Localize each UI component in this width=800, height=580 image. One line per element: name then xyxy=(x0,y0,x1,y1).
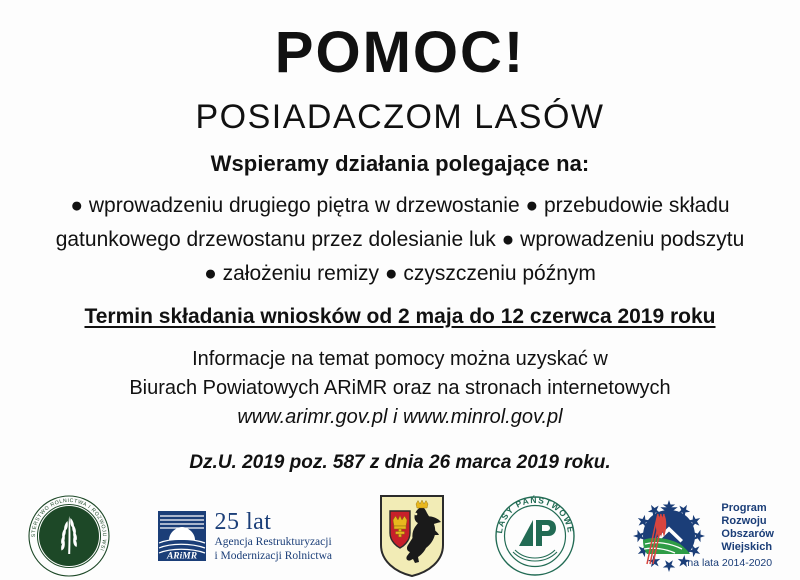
prow-line-1: Program xyxy=(721,502,774,515)
svg-text:ARiMR: ARiMR xyxy=(166,552,197,562)
arimr-mark-icon: ARiMR xyxy=(157,510,207,562)
info-line: Informacje na temat pomocy można uzyskać… xyxy=(129,345,670,374)
prow-years: na lata 2014-2020 xyxy=(687,557,774,569)
arimr-anniversary: 25 lat xyxy=(214,510,332,534)
page-subtitle: POSIADACZOM LASÓW xyxy=(196,100,605,134)
coat-of-arms-icon xyxy=(377,493,447,579)
info-line: Biurach Powiatowych ARiMR oraz na strona… xyxy=(129,374,670,403)
bullet-line: ● założeniu remizy ● czyszczeniu późnym xyxy=(20,257,780,291)
arimr-name-line-2: i Modernizacji Rolnictwa xyxy=(214,551,332,563)
logo-arimr: ARiMR 25 lat Agencja Restrukturyzacji i … xyxy=(157,510,332,563)
deadline-text: Termin składania wniosków od 2 maja do 1… xyxy=(84,305,715,329)
arimr-name-line-1: Agencja Restrukturyzacji xyxy=(214,537,332,549)
prow-line-2: Rozwoju xyxy=(721,515,774,528)
logo-coat-of-arms xyxy=(377,493,447,579)
info-block: Informacje na temat pomocy można uzyskać… xyxy=(129,345,670,432)
ministry-seal-icon: MINISTERSTWO ROLNICTWA I ROZWOJU WSI xyxy=(26,493,112,579)
bullet-list: ● wprowadzeniu drugiego piętra w drzewos… xyxy=(20,189,780,291)
logo-strip: MINISTERSTWO ROLNICTWA I ROZWOJU WSI xyxy=(0,492,800,580)
poster-root: POMOC! POSIADACZOM LASÓW Wspieramy dział… xyxy=(0,0,800,565)
website-links[interactable]: www.arimr.gov.pl i www.minrol.gov.pl xyxy=(129,403,670,432)
prow-line-4: Wiejskich xyxy=(721,541,774,554)
legal-reference: Dz.U. 2019 poz. 587 z dnia 26 marca 2019… xyxy=(189,452,610,474)
logo-lasy-panstwowe: LASY PAŃSTWOWE xyxy=(493,494,577,578)
prow-text-block: Program Rozwoju Obszarów Wiejskich na la… xyxy=(721,502,774,569)
arimr-text-block: 25 lat Agencja Restrukturyzacji i Modern… xyxy=(214,510,332,563)
lead-text: Wspieramy działania polegające na: xyxy=(211,151,590,177)
svg-text:LASY PAŃSTWOWE: LASY PAŃSTWOWE xyxy=(494,495,576,534)
bullet-line: ● wprowadzeniu drugiego piętra w drzewos… xyxy=(20,189,780,223)
logo-ministry-agriculture: MINISTERSTWO ROLNICTWA I ROZWOJU WSI xyxy=(26,493,112,579)
logo-prow: Program Rozwoju Obszarów Wiejskich na la… xyxy=(622,492,774,580)
bullet-line: gatunkowego drzewostanu przez dolesianie… xyxy=(20,223,780,257)
lasy-panstwowe-icon: LASY PAŃSTWOWE xyxy=(493,494,577,578)
page-title: POMOC! xyxy=(275,24,525,82)
prow-line-3: Obszarów xyxy=(721,528,774,541)
